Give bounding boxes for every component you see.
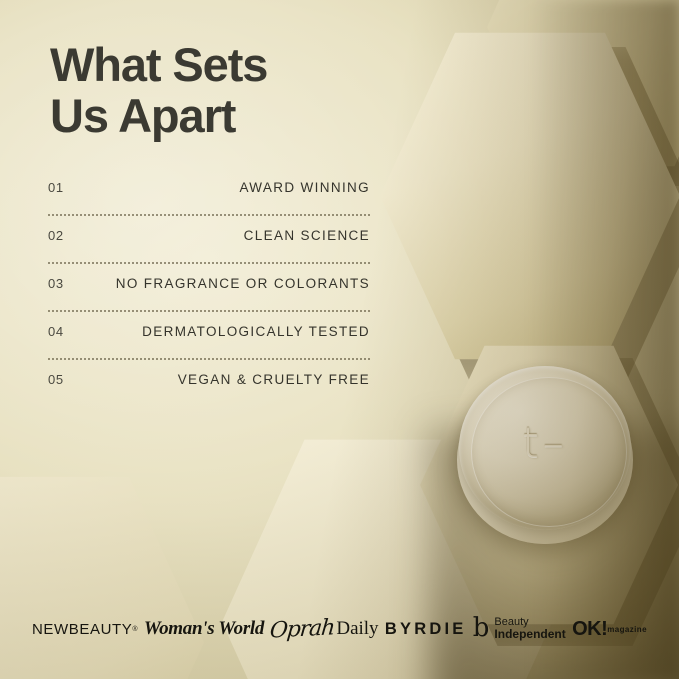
feature-row: 03 NO FRAGRANCE OR COLORANTS [48, 276, 370, 310]
feature-separator [48, 358, 370, 372]
page-title: What Sets Us Apart [50, 40, 267, 142]
feature-row: 05 VEGAN & CRUELTY FREE [48, 372, 370, 406]
feature-separator [48, 214, 370, 228]
press-logo-oprah-daily: Oprah Daily [270, 617, 378, 642]
feature-row: 01 AWARD WINNING [48, 180, 370, 214]
feature-number: 01 [48, 180, 64, 195]
byrdie-wordmark: BYRDIE [385, 620, 467, 639]
feature-label: VEGAN & CRUELTY FREE [178, 372, 370, 387]
feature-number: 04 [48, 324, 64, 339]
feature-label: NO FRAGRANCE OR COLORANTS [116, 276, 370, 291]
feature-label: DERMATOLOGICALLY TESTED [142, 324, 370, 339]
press-logo-bar: NEWBEAUTY® Woman's World Oprah Daily BYR… [0, 600, 679, 658]
feature-row: 04 DERMATOLOGICALLY TESTED [48, 324, 370, 358]
press-logo-ok-magazine: OK! magazine [572, 619, 647, 639]
newbeauty-wordmark: NEWBEAUTY [32, 621, 132, 638]
womans-world-wordmark: Woman's World [144, 618, 264, 640]
feature-label: CLEAN SCIENCE [244, 228, 370, 243]
ok-wordmark: OK! [572, 619, 607, 639]
promo-graphic: t– What Sets Us Apart 01 AWARD WINNING 0… [0, 0, 679, 679]
press-logo-newbeauty: NEWBEAUTY® [32, 621, 138, 638]
feature-number: 03 [48, 276, 64, 291]
beauty-independent-wordmark: Beauty Independent [494, 617, 565, 642]
feature-number: 02 [48, 228, 64, 243]
content-layer: What Sets Us Apart 01 AWARD WINNING 02 C… [0, 0, 679, 679]
press-logo-byrdie: BYRDIE [385, 620, 467, 639]
oprah-script-wordmark: Oprah [269, 615, 336, 643]
press-logo-womans-world: Woman's World [144, 618, 264, 640]
feature-separator [48, 262, 370, 276]
feature-label: AWARD WINNING [239, 180, 370, 195]
press-logo-beauty-independent: b Beauty Independent [473, 617, 566, 642]
ok-magazine-subtext: magazine [607, 626, 647, 634]
daily-wordmark: Daily [336, 618, 378, 640]
trademark-icon: ® [132, 626, 137, 633]
feature-separator [48, 310, 370, 324]
beauty-independent-line2: Independent [494, 628, 565, 641]
beauty-independent-b-icon: b [473, 617, 490, 640]
feature-row: 02 CLEAN SCIENCE [48, 228, 370, 262]
feature-list: 01 AWARD WINNING 02 CLEAN SCIENCE 03 NO … [48, 180, 370, 406]
feature-number: 05 [48, 372, 64, 387]
